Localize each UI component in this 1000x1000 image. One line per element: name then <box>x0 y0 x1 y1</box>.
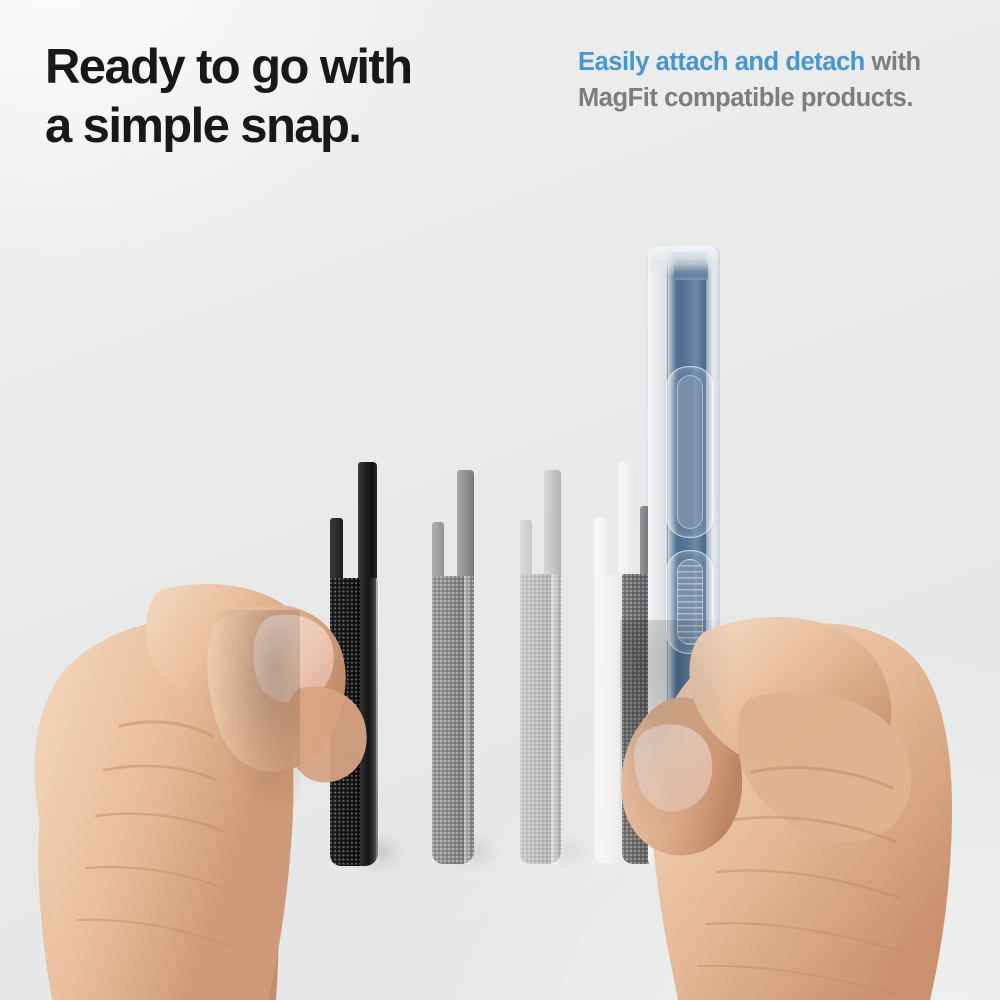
right-hand-ambient-shadow <box>620 620 740 850</box>
product-hero-image: Ready to go with a simple snap. Easily a… <box>0 0 1000 1000</box>
ghost-1-lip <box>432 522 444 582</box>
page-title: Ready to go with a simple snap. <box>45 38 525 156</box>
ghost-2-sheen <box>551 574 561 864</box>
motion-ghost-1 <box>432 470 478 864</box>
motion-ghost-2 <box>520 470 564 864</box>
subtitle-highlight: Easily attach and detach <box>578 48 865 76</box>
ghost-1-spine <box>457 470 474 582</box>
volume-button-inner <box>677 375 703 529</box>
volume-button-cover[interactable] <box>666 366 714 538</box>
ghost-2-spine <box>544 470 561 580</box>
left-hand-ambient-shadow <box>210 610 300 820</box>
left-hand-holding-wallet <box>0 520 420 1000</box>
ghost-1-sheen <box>464 576 474 864</box>
ghost-2-lip <box>520 520 532 580</box>
right-hand-holding-phone <box>600 520 1000 1000</box>
clear-case-top-lip <box>650 246 718 276</box>
subtitle: Easily attach and detach with MagFit com… <box>578 44 930 116</box>
